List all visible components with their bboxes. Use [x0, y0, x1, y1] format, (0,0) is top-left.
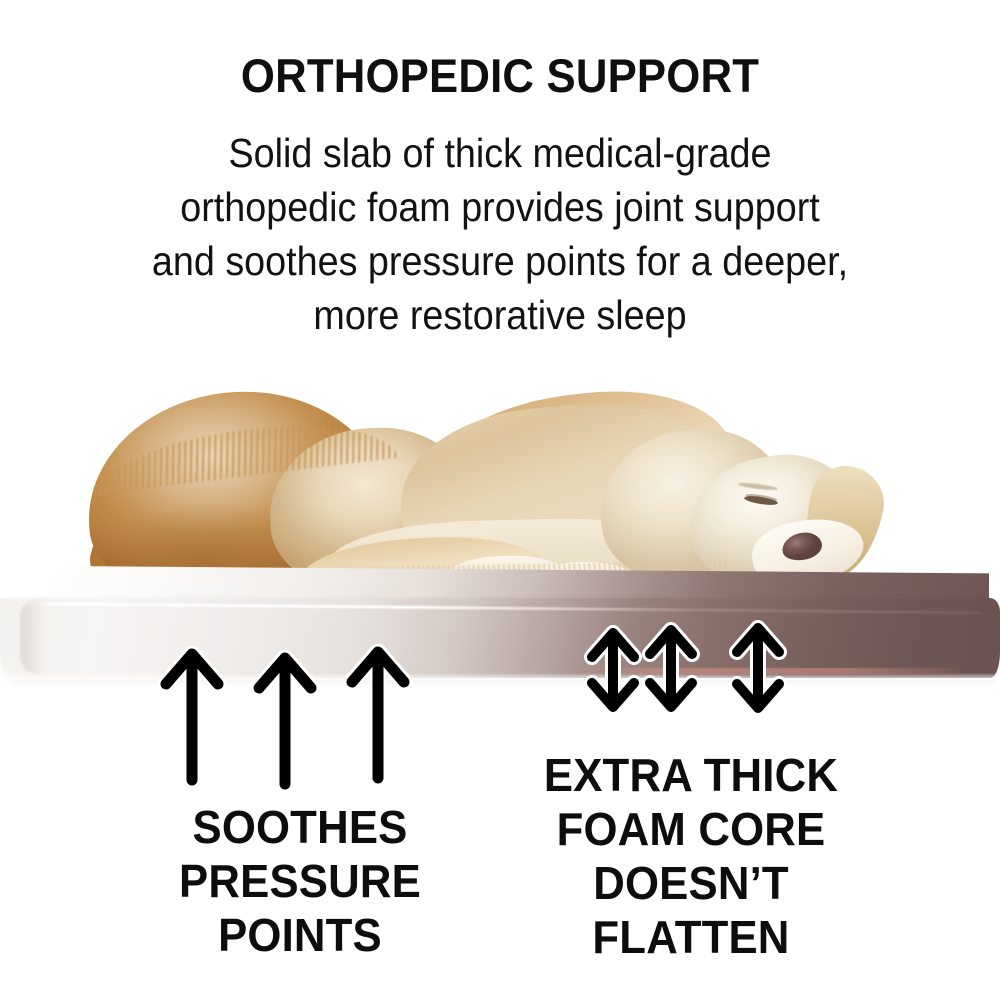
- caption-extra-thick-foam-core: EXTRA THICK FOAM CORE DOESN’T FLATTEN: [508, 748, 875, 964]
- product-photo: [0, 370, 1000, 715]
- caption-right-line-1: EXTRA THICK: [508, 748, 875, 802]
- caption-right-line-2: FOAM CORE: [508, 802, 875, 856]
- subtitle-line-2: orthopedic foam provides joint support: [40, 180, 960, 234]
- caption-left-line-1: SOOTHES: [110, 800, 490, 854]
- caption-right-line-4: FLATTEN: [508, 910, 875, 964]
- caption-left-line-2: PRESSURE: [110, 854, 490, 908]
- arrow-up-icon: [251, 644, 319, 794]
- subtitle-line-4: more restorative sleep: [40, 288, 960, 342]
- arrow-up-icon: [158, 640, 226, 790]
- caption-right-line-3: DOESN’T: [508, 856, 875, 910]
- arrow-up-down-icon: [641, 621, 701, 716]
- page-title: ORTHOPEDIC SUPPORT: [35, 52, 965, 99]
- foam-slab-corner: [20, 600, 46, 674]
- subtitle-paragraph: Solid slab of thick medical-grade orthop…: [40, 126, 960, 342]
- caption-soothes-pressure-points: SOOTHES PRESSURE POINTS: [110, 800, 490, 962]
- subtitle-line-1: Solid slab of thick medical-grade: [40, 126, 960, 180]
- arrow-up-icon: [344, 638, 412, 788]
- arrow-up-down-icon: [728, 619, 788, 717]
- caption-left-line-3: POINTS: [110, 908, 490, 962]
- infographic-canvas: ORTHOPEDIC SUPPORT Solid slab of thick m…: [0, 0, 1000, 1000]
- arrow-up-down-icon: [583, 624, 643, 716]
- subtitle-line-3: and soothes pressure points for a deeper…: [40, 234, 960, 288]
